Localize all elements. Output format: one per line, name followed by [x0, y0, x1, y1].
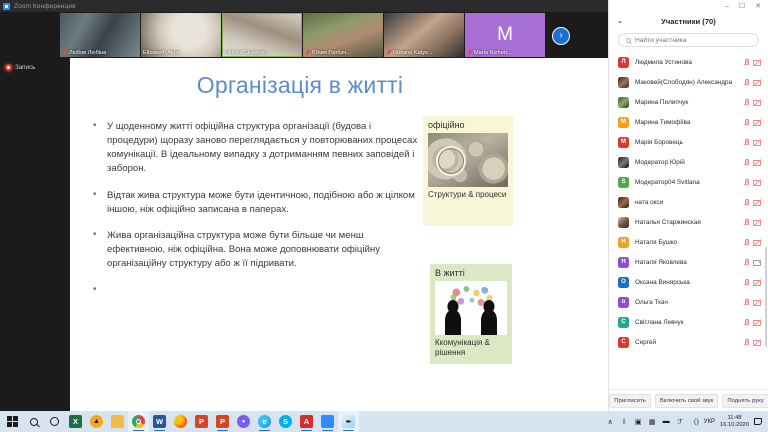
participant-status-icons[interactable]: [743, 319, 761, 326]
mic-off-icon[interactable]: [743, 319, 749, 326]
avatar-initial: М: [621, 139, 626, 145]
avatar-initial: о: [622, 299, 626, 305]
clock-date: 16.10.2020: [720, 422, 749, 429]
participant-name: Марина Тимофіїва: [635, 119, 737, 126]
video-tile[interactable]: Viktoria Slusaren...: [222, 13, 302, 57]
taskbar-app-viber[interactable]: ●: [233, 411, 254, 432]
chevron-right-icon: ›: [559, 31, 562, 41]
participant-row[interactable]: Маковей(Слободян) Александра: [609, 72, 768, 92]
video-tile-name-bar: Любов Любіна: [60, 48, 140, 57]
mic-off-icon[interactable]: [743, 259, 749, 266]
participant-status-icons[interactable]: [743, 159, 761, 166]
video-tile-name: Elisabeth Alder: [143, 50, 180, 56]
slide-bullet-list: У щоденному житті офіційна структура орг…: [88, 120, 418, 294]
taskbar-app-explorer[interactable]: [107, 411, 128, 432]
participant-status-icons[interactable]: [743, 79, 761, 86]
video-tile-name: Maria Nizhen...: [474, 50, 512, 56]
panel-window-controls: – ☐ ✕: [609, 0, 768, 13]
person-silhouette-icon: [445, 310, 461, 335]
participant-name: Маковей(Слободян) Александра: [635, 79, 737, 86]
avatar: С: [618, 337, 629, 348]
participant-row[interactable]: Н Наталя Яковлева: [609, 252, 768, 272]
battery-icon[interactable]: ▬: [662, 417, 671, 426]
video-tile[interactable]: Юлия Горбач...: [303, 13, 383, 57]
cortana-button[interactable]: [44, 411, 65, 432]
participant-list[interactable]: Л Людмила Устинова Маковей(Слободян) Але…: [609, 52, 768, 352]
edge-icon: e: [258, 415, 271, 428]
participants-count-title: Участники (70): [661, 17, 716, 26]
video-tile-name-bar: Юлия Горбач...: [303, 48, 383, 57]
zoom-app-icon: [3, 3, 10, 10]
taskbar-app-powerpoint-2[interactable]: P: [212, 411, 233, 432]
camera-off-icon[interactable]: [753, 99, 761, 106]
avatar-initial: Л: [621, 59, 625, 65]
taskbar-app-powerpoint[interactable]: P: [191, 411, 212, 432]
participant-row[interactable]: Л Людмила Устинова: [609, 52, 768, 72]
card-top-label: офіційно: [428, 120, 508, 130]
mic-off-icon[interactable]: [743, 159, 749, 166]
volume-icon[interactable]: 〈): [690, 417, 699, 426]
video-tile-name-bar: Viktoria Slusaren...: [222, 48, 302, 57]
camera-off-icon[interactable]: [753, 319, 761, 326]
participant-row[interactable]: М Марія Боровець: [609, 132, 768, 152]
video-tile-name: Roxana Katys...: [393, 50, 433, 56]
skype-icon: S: [279, 415, 292, 428]
mic-off-icon[interactable]: [743, 339, 749, 346]
firefox-icon: [174, 415, 187, 428]
slide-card-life: В житті Ккомунікація & рішення: [430, 264, 512, 364]
participant-search-wrapper: [609, 30, 768, 52]
participant-name: Наталья Старжинская: [635, 219, 737, 226]
camera-off-icon[interactable]: [753, 59, 761, 66]
raise-hand-button[interactable]: Поднять руку: [722, 394, 768, 408]
mic-off-icon[interactable]: [743, 99, 749, 106]
windows-logo-icon: [7, 416, 18, 427]
video-tile[interactable]: Любов Любіна: [60, 13, 140, 57]
mic-off-icon[interactable]: [743, 279, 749, 286]
participant-status-icons[interactable]: [743, 139, 761, 146]
recording-indicator[interactable]: Запись: [5, 64, 35, 71]
search-input[interactable]: [635, 37, 751, 44]
taskbar-app-edge[interactable]: e: [254, 411, 275, 432]
participant-row[interactable]: ната окси: [609, 192, 768, 212]
avast-icon: ▲: [90, 415, 103, 428]
camera-off-icon[interactable]: [753, 159, 761, 166]
close-button[interactable]: ✕: [755, 3, 761, 10]
participant-status-icons[interactable]: [743, 339, 761, 346]
participant-status-icons[interactable]: [743, 239, 761, 246]
participant-search-box[interactable]: [618, 33, 759, 47]
video-tile-name-bar: Roxana Katys...: [384, 48, 464, 57]
participant-row[interactable]: S Модератор04 Svitlana: [609, 172, 768, 192]
participant-name: Сергей: [635, 339, 737, 346]
camera-off-icon[interactable]: [753, 339, 761, 346]
participant-row[interactable]: О Оксана Винярська: [609, 272, 768, 292]
video-tile[interactable]: Roxana Katys...: [384, 13, 464, 57]
avatar-initial: Н: [621, 239, 625, 245]
camera-off-icon[interactable]: [753, 199, 761, 206]
participant-status-icons[interactable]: [743, 299, 761, 306]
taskbar-app-avast[interactable]: ▲: [86, 411, 107, 432]
notification-icon[interactable]: [754, 418, 762, 425]
camera-off-icon[interactable]: [753, 179, 761, 186]
video-tile-name: Юлия Горбач...: [312, 50, 351, 56]
mic-off-icon[interactable]: [743, 139, 749, 146]
next-page-button[interactable]: ›: [552, 27, 570, 45]
zoom-meeting-window: Zoom Конференция Любов Любіна Elisabeth …: [0, 0, 608, 411]
language-indicator[interactable]: УКР: [704, 419, 715, 425]
mic-off-icon: [305, 50, 310, 56]
participant-status-icons[interactable]: [743, 199, 761, 206]
camera-off-icon[interactable]: [753, 119, 761, 126]
file-explorer-icon: [111, 415, 124, 428]
acrobat-icon: A: [300, 415, 313, 428]
participant-name: Людмила Устинова: [635, 59, 737, 66]
avatar-letter: M: [497, 24, 513, 46]
taskbar-app-word[interactable]: W: [149, 411, 170, 432]
chevron-down-icon[interactable]: ⌄: [617, 17, 623, 25]
maximize-button[interactable]: ☐: [739, 3, 745, 10]
slide-bullet: У щоденному житті офіційна структура орг…: [88, 120, 418, 176]
avatar-initial: С: [621, 319, 625, 325]
participant-name: ната окси: [635, 199, 737, 206]
video-tile-name: Любов Любіна: [69, 50, 106, 56]
taskbar-system-tray: ∧ ⇩ ▣ ▦ ▬ ℱ 〈) УКР 11:48 16.10.2020: [606, 415, 768, 429]
mic-off-icon[interactable]: [743, 179, 749, 186]
windows-taskbar: X ▲ W P P ● e S A ✒ ∧ ⇩ ▣ ▦ ▬ ℱ 〈) УКР 1…: [0, 411, 768, 432]
avatar: S: [618, 177, 629, 188]
slide-bullet: Відтак жива структура може бути ідентичн…: [88, 189, 418, 217]
mic-off-icon[interactable]: [743, 119, 749, 126]
clock-time: 11:48: [720, 415, 749, 422]
tray-app-icon[interactable]: ▣: [634, 417, 643, 426]
participant-row[interactable]: С Світлана Левчук: [609, 312, 768, 332]
participant-name: Марина Пилипчук: [635, 99, 737, 106]
avatar: [618, 97, 629, 108]
camera-off-icon[interactable]: [753, 79, 761, 86]
participants-panel-footer: Пригласить Включить свой звук Поднять ру…: [609, 389, 768, 411]
camera-off-icon[interactable]: [753, 299, 761, 306]
mic-off-icon: [62, 50, 67, 56]
avatar: Н: [618, 237, 629, 248]
mic-off-icon[interactable]: [743, 299, 749, 306]
start-button[interactable]: [2, 411, 23, 432]
participant-row[interactable]: Н Наталя Бушко: [609, 232, 768, 252]
clock[interactable]: 11:48 16.10.2020: [720, 415, 749, 429]
taskbar-apps: X ▲ W P P ● e S A ✒: [0, 411, 359, 432]
camera-off-icon[interactable]: [753, 219, 761, 226]
avatar: [618, 157, 629, 168]
participant-list-scrollbar[interactable]: [765, 247, 768, 347]
avatar: М: [618, 117, 629, 128]
slide-bullet: Жива організаційна структура може бути б…: [88, 229, 418, 271]
chrome-icon: [132, 415, 145, 428]
network-icon[interactable]: ℱ: [676, 417, 685, 426]
participant-status-icons[interactable]: [743, 119, 761, 126]
invite-button[interactable]: Пригласить: [609, 394, 651, 408]
video-tile-name: Viktoria Slusaren...: [224, 50, 271, 56]
taskbar-app-zoom[interactable]: [317, 411, 338, 432]
participant-name: Наталя Бушко: [635, 239, 737, 246]
zoom-titlebar: Zoom Конференция: [0, 0, 608, 12]
participant-status-icons[interactable]: [743, 259, 761, 266]
taskbar-app-chrome[interactable]: [128, 411, 149, 432]
camera-off-icon[interactable]: [753, 139, 761, 146]
participant-status-icons[interactable]: [743, 99, 761, 106]
participant-name: Ольга Ткач: [635, 299, 737, 306]
powerpoint-icon: P: [195, 415, 208, 428]
tray-expand-icon[interactable]: ∧: [606, 417, 615, 426]
word-icon: W: [153, 415, 166, 428]
video-tile-name-bar: Maria Nizhen...: [465, 48, 545, 57]
shared-screen-slide: Організація в житті У щоденному житті оф…: [70, 58, 608, 411]
gears-photo: [428, 133, 508, 187]
zoom-icon: [321, 415, 334, 428]
speech-bubble-people-photo: [435, 281, 507, 335]
participant-name: Наталя Яковлева: [635, 259, 737, 266]
search-icon: [30, 418, 38, 426]
avatar: [618, 197, 629, 208]
camera-on-icon[interactable]: [753, 259, 761, 266]
participant-row[interactable]: М Марина Тимофіїва: [609, 112, 768, 132]
participant-row[interactable]: о Ольга Ткач: [609, 292, 768, 312]
taskbar-app-firefox[interactable]: [170, 411, 191, 432]
participant-name: Марія Боровець: [635, 139, 737, 146]
mic-off-icon: [386, 50, 391, 56]
unmute-myself-button[interactable]: Включить свой звук: [655, 394, 719, 408]
taskbar-app-skype[interactable]: S: [275, 411, 296, 432]
card-top-label: В житті: [435, 268, 507, 278]
video-tile[interactable]: M Maria Nizhen...: [465, 13, 545, 57]
participant-status-icons[interactable]: [743, 179, 761, 186]
avatar: Л: [618, 57, 629, 68]
person-silhouette-icon: [481, 310, 497, 335]
participant-name: Оксана Винярська: [635, 279, 737, 286]
participant-status-icons[interactable]: [743, 279, 761, 286]
avatar: О: [618, 277, 629, 288]
participant-status-icons[interactable]: [743, 59, 761, 66]
avatar: Н: [618, 257, 629, 268]
participant-status-icons[interactable]: [743, 219, 761, 226]
camera-off-icon[interactable]: [753, 239, 761, 246]
minimize-button[interactable]: –: [725, 3, 729, 10]
participant-row[interactable]: С Сергей: [609, 332, 768, 352]
participant-name: Модератор Юрій: [635, 159, 737, 166]
slide-title: Організація в житті: [70, 72, 530, 99]
tray-app2-icon[interactable]: ▦: [648, 417, 657, 426]
onedrive-icon[interactable]: ⇩: [620, 417, 629, 426]
taskbar-app-acrobat[interactable]: A: [296, 411, 317, 432]
card-bottom-label: Ккомунікація & рішення: [435, 338, 507, 358]
cortana-circle-icon: [50, 417, 59, 426]
avatar-initial: S: [621, 179, 625, 185]
taskbar-search-button[interactable]: [23, 411, 44, 432]
mic-off-icon[interactable]: [743, 79, 749, 86]
record-dot-icon: [5, 64, 12, 71]
mic-off-icon[interactable]: [743, 219, 749, 226]
avatar: [618, 77, 629, 88]
slide-card-official: офіційно Структури & процеси: [423, 116, 513, 226]
taskbar-app-paint[interactable]: ✒: [338, 411, 359, 432]
participant-name: Модератор04 Svitlana: [635, 179, 737, 186]
avatar: М: [618, 137, 629, 148]
participant-row[interactable]: Наталья Старжинская: [609, 212, 768, 232]
excel-icon: X: [69, 415, 82, 428]
slide-bullet-empty: [88, 284, 418, 294]
avatar-initial: С: [621, 339, 625, 345]
taskbar-app-excel[interactable]: X: [65, 411, 86, 432]
mic-off-icon[interactable]: [743, 199, 749, 206]
video-tile[interactable]: Elisabeth Alder: [141, 13, 221, 57]
participant-name: Світлана Левчук: [635, 319, 737, 326]
powerpoint2-icon: P: [216, 415, 229, 428]
avatar: о: [618, 297, 629, 308]
mic-off-icon[interactable]: [743, 239, 749, 246]
avatar: [618, 217, 629, 228]
avatar-initial: Н: [621, 259, 625, 265]
paint-icon: ✒: [342, 415, 355, 428]
participant-row[interactable]: Модератор Юрій: [609, 152, 768, 172]
participants-panel: – ☐ ✕ ⌄ Участники (70) Л Людмила Устинов…: [608, 0, 768, 411]
avatar: С: [618, 317, 629, 328]
mic-off-icon: [467, 50, 472, 56]
mic-off-icon[interactable]: [743, 59, 749, 66]
video-thumbnail-strip[interactable]: Любов Любіна Elisabeth Alder Viktoria Sl…: [0, 12, 608, 58]
video-tile-name-bar: Elisabeth Alder: [141, 48, 221, 57]
avatar-initial: М: [621, 119, 626, 125]
participants-panel-header: ⌄ Участники (70): [609, 13, 768, 30]
card-bottom-label: Структури & процеси: [428, 190, 508, 200]
recording-label: Запись: [15, 64, 35, 71]
participant-row[interactable]: Марина Пилипчук: [609, 92, 768, 112]
viber-icon: ●: [237, 415, 250, 428]
search-icon: [626, 38, 631, 43]
avatar-initial: О: [621, 279, 626, 285]
zoom-window-title: Zoom Конференция: [14, 3, 76, 10]
camera-off-icon[interactable]: [753, 279, 761, 286]
